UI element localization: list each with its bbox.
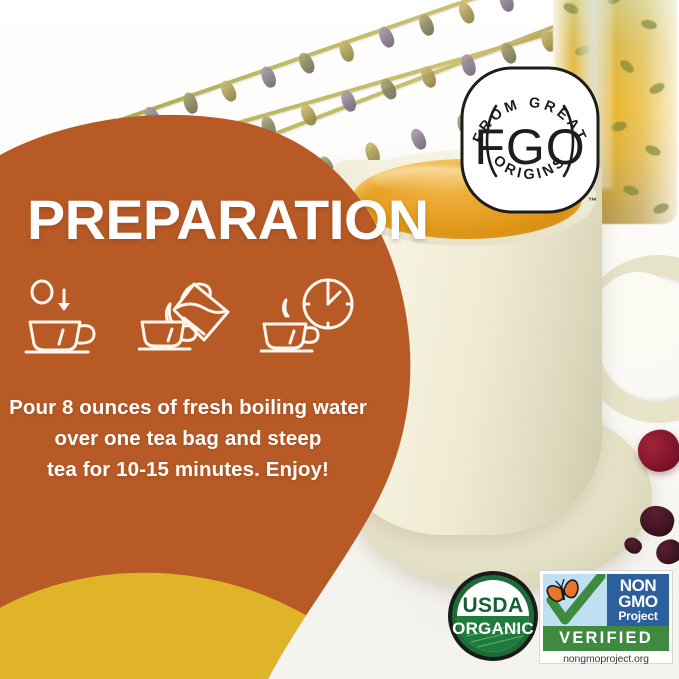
preparation-instructions: Pour 8 ounces of fresh boiling water ove… bbox=[8, 392, 368, 485]
nongmo-upper-section: NON GMO Project bbox=[543, 574, 669, 626]
preparation-steps bbox=[16, 278, 356, 356]
instruction-line-3: tea for 10-15 minutes. Enjoy! bbox=[8, 454, 368, 485]
teabag-pouring-into-cup-icon bbox=[138, 278, 234, 356]
usda-label-bottom: ORGANIC bbox=[452, 619, 534, 638]
usda-label-top: USDA bbox=[462, 594, 523, 617]
nongmo-blue-box: NON GMO Project bbox=[607, 574, 669, 626]
nongmo-line-project: Project bbox=[618, 611, 657, 623]
instruction-line-1: Pour 8 ounces of fresh boiling water bbox=[8, 392, 368, 423]
nongmo-website-url: nongmoproject.org bbox=[543, 651, 669, 665]
steaming-cup-with-clock-icon bbox=[260, 278, 356, 356]
logo-monogram: FGO bbox=[474, 119, 585, 175]
nongmo-checkmark-butterfly-art bbox=[543, 574, 607, 626]
trademark-symbol: ™ bbox=[588, 196, 597, 206]
page-title: PREPARATION bbox=[27, 192, 429, 248]
instruction-line-2: over one tea bag and steep bbox=[8, 423, 368, 454]
usda-organic-seal: USDA ORGANIC bbox=[447, 570, 539, 662]
mug-handle-opening bbox=[592, 272, 679, 366]
nongmo-verified-bar: VERIFIED bbox=[543, 626, 669, 651]
water-drop-into-cup-icon bbox=[16, 278, 112, 356]
product-marketing-image: PREPARATION bbox=[0, 0, 679, 679]
fgo-brand-logo: FROM GREAT ORIGINS FGO bbox=[456, 62, 604, 218]
non-gmo-project-verified-seal: NON GMO Project VERIFIED nongmoproject.o… bbox=[539, 570, 673, 664]
